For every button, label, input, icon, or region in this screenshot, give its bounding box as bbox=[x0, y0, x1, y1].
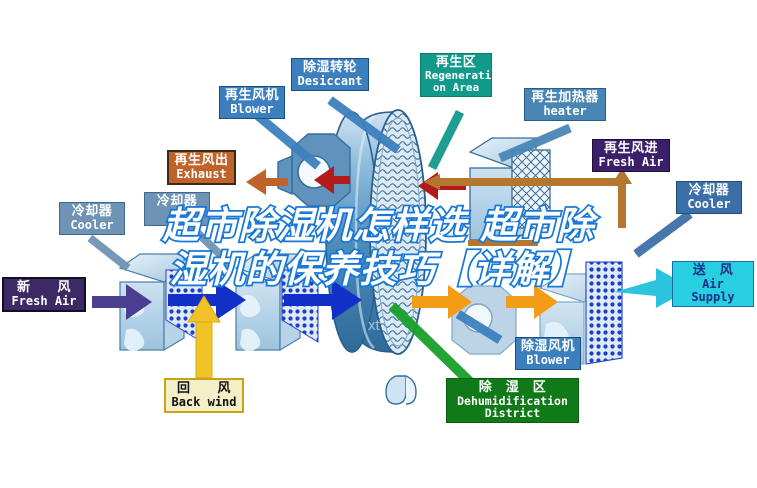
label-cn: 除湿转轮 bbox=[296, 61, 364, 75]
regeneration-blower-unit bbox=[278, 134, 350, 206]
overlay-title-line-2: 湿机的保养技巧【详解】 bbox=[0, 248, 757, 292]
label-cn: 再生风进 bbox=[597, 142, 665, 156]
label-cn: 再生风机 bbox=[224, 89, 280, 103]
label-en: heater bbox=[529, 105, 601, 118]
rotor-drain bbox=[386, 376, 416, 404]
label-cn: 除 湿 区 bbox=[451, 381, 574, 395]
label-desiccant-wheel: 除湿转轮 Desiccant bbox=[291, 58, 369, 91]
label-regeneration-heater: 再生加热器 heater bbox=[524, 88, 606, 121]
label-cn: 冷却器 bbox=[681, 184, 737, 198]
label-cn: 再生区 bbox=[425, 56, 487, 70]
label-en: Back wind bbox=[170, 396, 238, 409]
label-cn: 再生加热器 bbox=[529, 91, 601, 105]
label-dehumidification-area: 除 湿 区 Dehumidification District bbox=[446, 378, 579, 423]
label-en: Exhaust bbox=[173, 168, 230, 181]
label-regeneration-area: 再生区 Regenerati on Area bbox=[420, 53, 492, 97]
label-regeneration-blower: 再生风机 Blower bbox=[219, 86, 285, 119]
label-en: Fresh Air bbox=[8, 295, 80, 308]
label-en: Dehumidification District bbox=[451, 395, 574, 420]
label-en: Regenerati on Area bbox=[425, 70, 487, 94]
watermark: xt bbox=[368, 317, 381, 334]
diagram-canvas: xt bbox=[0, 0, 757, 488]
label-cn: 再生风出 bbox=[173, 154, 230, 168]
label-en: Desiccant bbox=[296, 75, 364, 88]
overlay-title-line-1: 超市除湿机怎样选 超市除 bbox=[0, 204, 757, 248]
label-cn: 回 风 bbox=[170, 382, 238, 396]
label-en: Blower bbox=[224, 103, 280, 116]
overlay-title: 超市除湿机怎样选 超市除 湿机的保养技巧【详解】 bbox=[0, 204, 757, 291]
label-regeneration-fresh-air: 再生风进 Fresh Air bbox=[592, 139, 670, 172]
label-dehumidification-blower: 除湿风机 Blower bbox=[515, 337, 581, 370]
label-cn: 除湿风机 bbox=[520, 340, 576, 354]
label-en: Blower bbox=[520, 354, 576, 367]
label-en: Fresh Air bbox=[597, 156, 665, 169]
label-back-wind: 回 风 Back wind bbox=[164, 378, 244, 413]
label-regeneration-exhaust: 再生风出 Exhaust bbox=[167, 150, 236, 185]
